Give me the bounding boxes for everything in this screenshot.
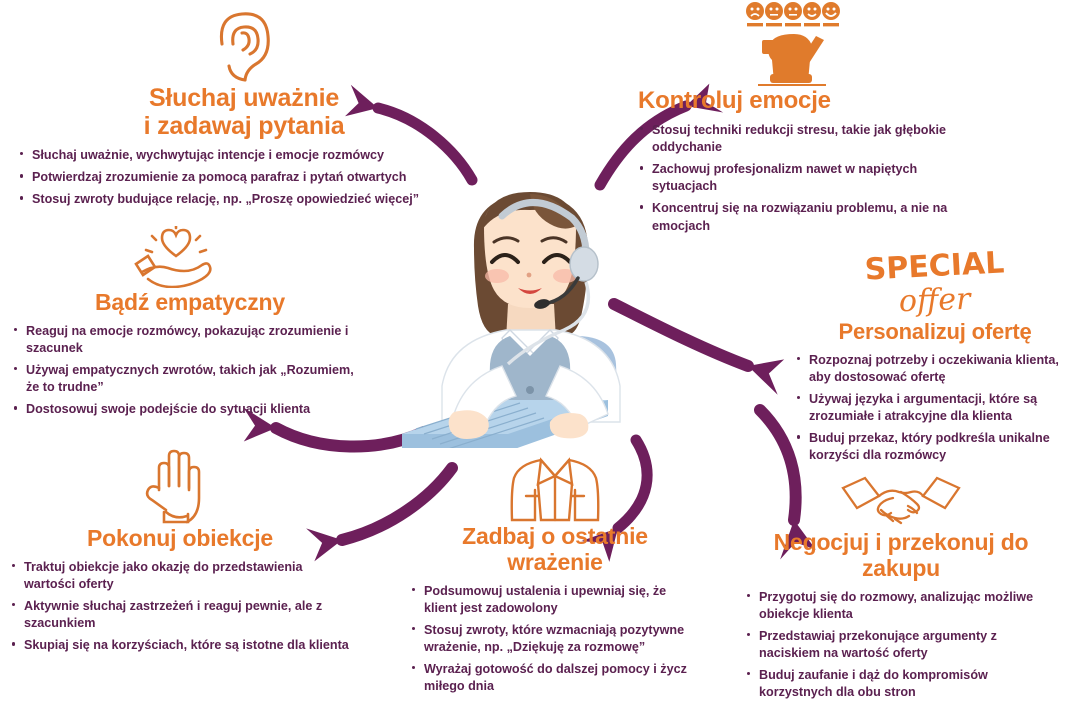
bullet-list-emotions: Stosuj techniki redukcji stresu, takie j…: [638, 122, 970, 235]
handshake-icon: [840, 466, 962, 528]
section-emotions: Kontroluj emocje Stosuj techniki redukcj…: [638, 0, 1068, 240]
bullet-list-offer: Rozpoznaj potrzeby i oczekiwania klienta…: [795, 352, 1075, 465]
infographic-canvas: Słuchaj uważnie i zadawaj pytania Słucha…: [0, 0, 1080, 720]
list-item: Traktuj obiekcje jako okazję do przedsta…: [10, 559, 350, 593]
special-offer-lettering-icon: SPECIAL offer: [795, 246, 1075, 318]
list-item: Używaj empatycznych zwrotów, takich jak …: [12, 362, 368, 396]
ear-icon: [210, 10, 272, 82]
list-item: Używaj języka i argumentacji, które są z…: [795, 391, 1075, 425]
heart-in-hand-icon: [134, 226, 218, 288]
open-palm-icon-wrap: [142, 440, 350, 524]
list-item: Koncentruj się na rozwiązaniu problemu, …: [638, 200, 970, 234]
list-item: Dostosowuj swoje podejście do sytuacji k…: [12, 401, 368, 418]
list-item: Buduj zaufanie i dąż do kompromisów korz…: [745, 667, 1057, 701]
list-item: Potwierdzaj zrozumienie za pomocą parafr…: [18, 169, 470, 186]
special-offer-lettering-glyphs: SPECIAL offer: [850, 244, 1020, 320]
section-title-listen: Słuchaj uważnie i zadawaj pytania: [18, 84, 470, 140]
handshake-icon-wrap: [745, 462, 1057, 528]
section-offer: SPECIAL offer Personalizuj ofertę Rozpoz…: [795, 246, 1075, 469]
satisfaction-survey-icon-wrap: [744, 0, 1068, 86]
section-title-offer: Personalizuj ofertę: [795, 320, 1075, 345]
svg-text:offer: offer: [898, 282, 972, 320]
list-item: Aktywnie słuchaj zastrzeżeń i reaguj pew…: [10, 598, 350, 632]
section-impression: Zadbaj o ostatnie wrażenie Podsumowuj us…: [410, 452, 700, 700]
heart-in-hand-icon-wrap: [134, 222, 368, 288]
call-center-agent-illustration: [398, 186, 664, 448]
svg-text:SPECIAL: SPECIAL: [864, 245, 1005, 287]
suit-jacket-icon: [508, 454, 602, 522]
list-item: Stosuj techniki redukcji stresu, takie j…: [638, 122, 970, 156]
suit-jacket-icon-wrap: [410, 452, 700, 522]
open-palm-icon: [142, 446, 210, 524]
list-item: Stosuj zwroty, które wzmacniają pozytywn…: [410, 622, 700, 656]
section-objections: Pokonuj obiekcje Traktuj obiekcje jako o…: [10, 440, 350, 659]
list-item: Podsumowuj ustalenia i upewniaj się, że …: [410, 583, 700, 617]
list-item: Buduj przekaz, który podkreśla unikalne …: [795, 430, 1075, 464]
ear-icon-wrap: [210, 4, 470, 82]
section-title-impression: Zadbaj o ostatnie wrażenie: [410, 524, 700, 576]
list-item: Stosuj zwroty budujące relację, np. „Pro…: [18, 191, 470, 208]
list-item: Rozpoznaj potrzeby i oczekiwania klienta…: [795, 352, 1075, 386]
bullet-list-impression: Podsumowuj ustalenia i upewniaj się, że …: [410, 583, 700, 696]
satisfaction-survey-icon: [744, 0, 844, 86]
section-title-negotiate: Negocjuj i przekonuj do zakupu: [745, 530, 1057, 582]
section-listen: Słuchaj uważnie i zadawaj pytania Słucha…: [18, 4, 470, 213]
section-empathy: Bądź empatyczny Reaguj na emocje rozmówc…: [12, 222, 368, 423]
bullet-list-objections: Traktuj obiekcje jako okazję do przedsta…: [10, 559, 350, 655]
list-item: Słuchaj uważnie, wychwytując intencje i …: [18, 147, 470, 164]
section-title-objections: Pokonuj obiekcje: [10, 526, 350, 552]
list-item: Przedstawiaj przekonujące argumenty z na…: [745, 628, 1057, 662]
list-item: Reaguj na emocje rozmówcy, pokazując zro…: [12, 323, 368, 357]
list-item: Skupiaj się na korzyściach, które są ist…: [10, 637, 350, 654]
list-item: Przygotuj się do rozmowy, analizując moż…: [745, 589, 1057, 623]
bullet-list-negotiate: Przygotuj się do rozmowy, analizując moż…: [745, 589, 1057, 702]
bullet-list-empathy: Reaguj na emocje rozmówcy, pokazując zro…: [12, 323, 368, 419]
section-title-emotions: Kontroluj emocje: [638, 88, 1068, 115]
section-title-empathy: Bądź empatyczny: [12, 290, 368, 316]
list-item: Zachowuj profesjonalizm nawet w napiętyc…: [638, 161, 970, 195]
bullet-list-listen: Słuchaj uważnie, wychwytując intencje i …: [18, 147, 470, 208]
section-negotiate: Negocjuj i przekonuj do zakupu Przygotuj…: [745, 462, 1057, 706]
list-item: Wyrażaj gotowość do dalszej pomocy i życ…: [410, 661, 700, 695]
